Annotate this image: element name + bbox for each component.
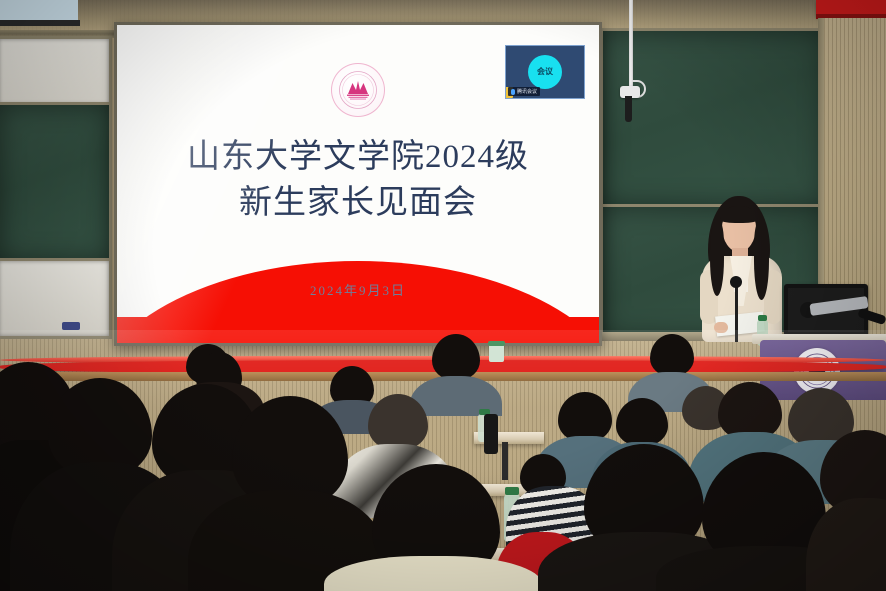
podium-bottle-cap (758, 315, 767, 321)
left-whiteboard-bottom (0, 258, 112, 339)
hanging-microphone-body (625, 96, 632, 122)
blue-ceiling-panel (0, 0, 78, 22)
slide-surface: 会议 腾讯会议 山东大学文学院2024级 新生家长见面会 2024年9月3日 (117, 25, 599, 343)
audience-head (616, 398, 668, 446)
blue-panel-edge (0, 20, 80, 26)
audience-head (650, 334, 694, 376)
slide-title-line-2: 新生家长见面会 (117, 179, 599, 227)
shandong-university-seal-icon (331, 63, 385, 117)
podium-microphone-stand (735, 282, 738, 342)
left-chalkboard (0, 102, 112, 263)
lecture-hall-photo: 会议 腾讯会议 山东大学文学院2024级 新生家长见面会 2024年9月3日 (0, 0, 886, 591)
avatar-initials: 会议 (537, 68, 553, 76)
paper-cup (489, 344, 504, 362)
presenter (700, 196, 786, 356)
microphone-icon (511, 89, 515, 95)
audience-head (432, 334, 480, 380)
slide-title-block: 山东大学文学院2024级 新生家长见面会 (117, 135, 599, 227)
audience-head (368, 394, 428, 450)
presenter-hair-left (710, 222, 724, 296)
projection-screen: 会议 腾讯会议 山东大学文学院2024级 新生家长见面会 2024年9月3日 (114, 22, 602, 346)
bottle-cap (505, 487, 519, 495)
thermos-bottle (484, 414, 498, 454)
participant-name: 腾讯会议 (517, 88, 537, 95)
presenter-hand (714, 322, 728, 333)
slide-date: 2024年9月3日 (117, 280, 599, 299)
slide-title-line-1: 山东大学文学院2024级 (117, 135, 599, 179)
participant-name-chip: 腾讯会议 (508, 87, 540, 96)
chalk-eraser (62, 322, 80, 330)
left-whiteboard-top (0, 36, 112, 107)
paper-cup-lid (488, 341, 505, 346)
desk-leg (502, 442, 508, 480)
participant-avatar: 会议 (528, 55, 562, 89)
audience-head (558, 392, 612, 442)
podium-microphone-icon (730, 276, 742, 288)
presenter-hair-right (754, 222, 769, 300)
video-conference-tile[interactable]: 会议 腾讯会议 (505, 45, 585, 99)
right-chalkboard-top (600, 28, 828, 209)
slide-red-band (117, 317, 599, 343)
ceiling-pole (629, 0, 633, 88)
